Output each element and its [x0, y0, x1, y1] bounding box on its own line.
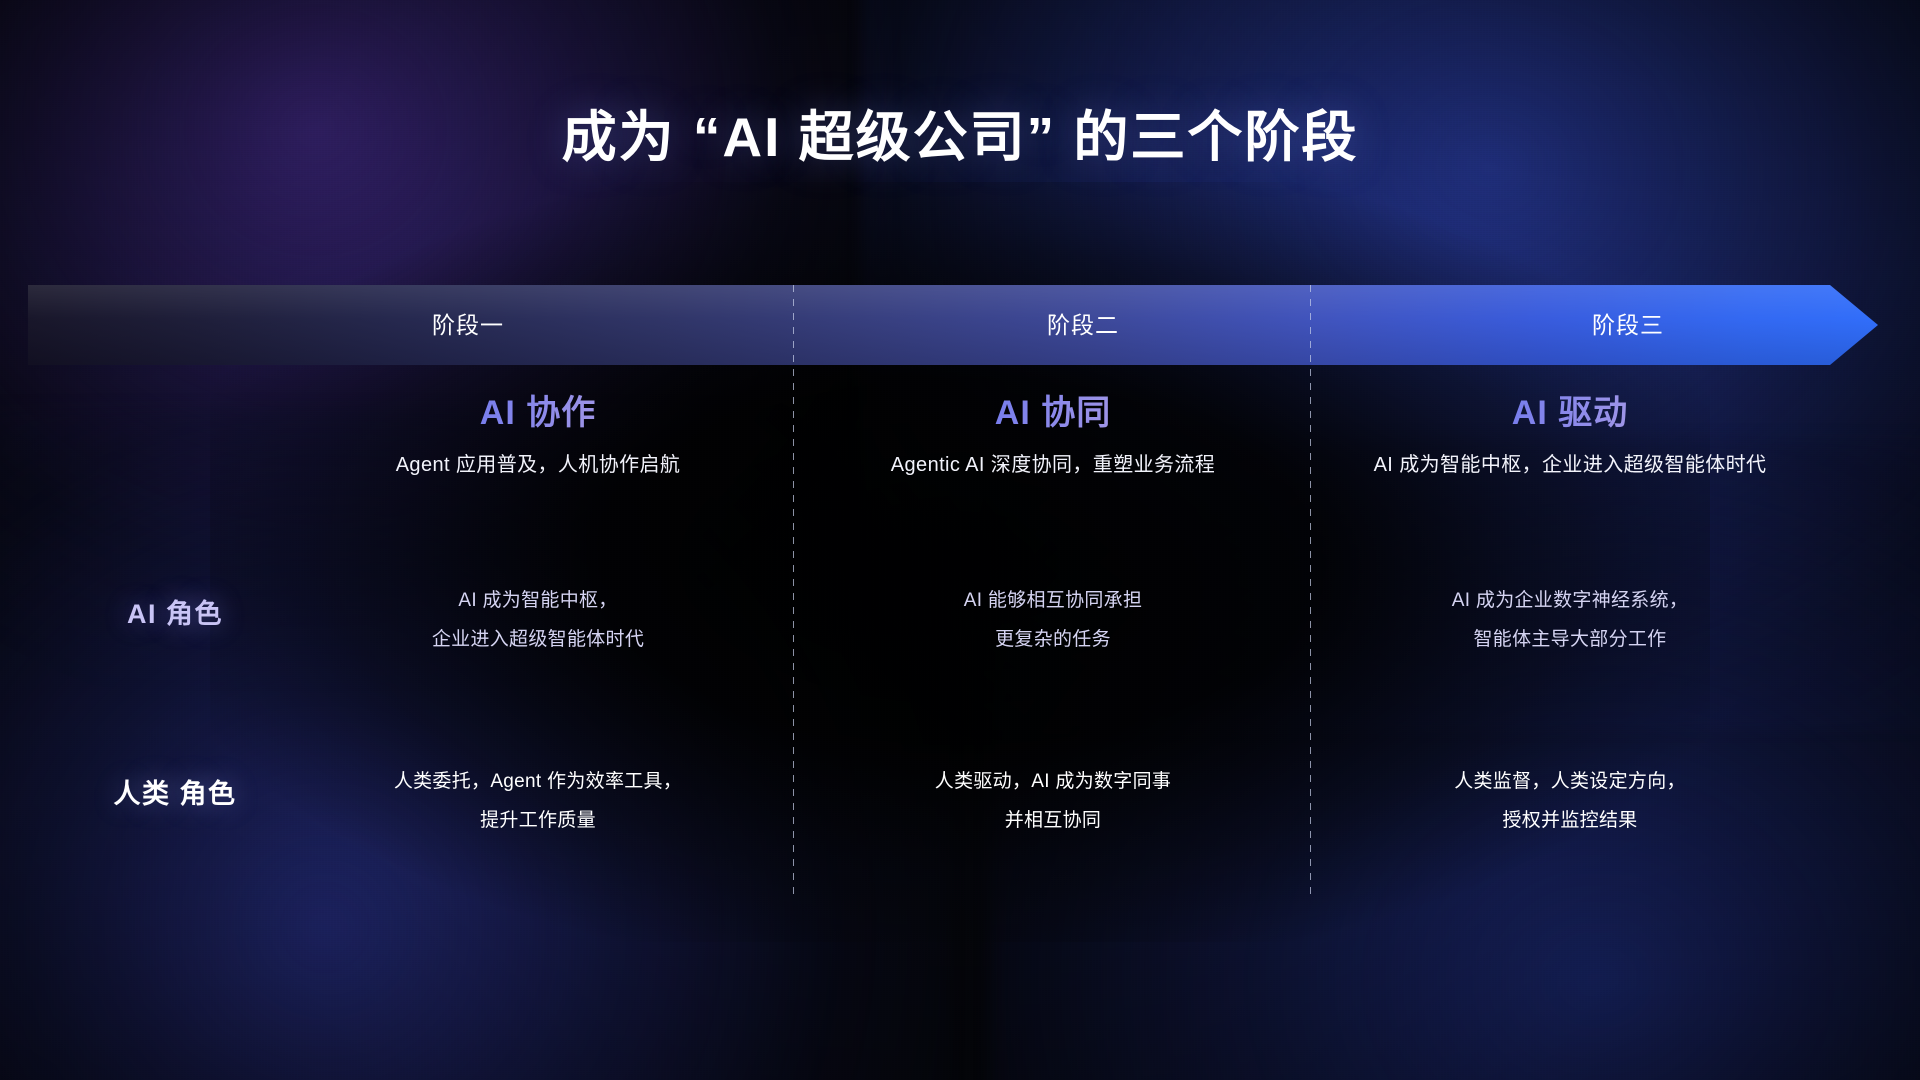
cell-line: 人类监督，人类设定方向，: [1310, 762, 1830, 801]
cell-line: AI 能够相互协同承担: [793, 581, 1313, 620]
cell-line: 授权并监控结果: [1310, 801, 1830, 840]
column-subtitle-three: AI 成为智能中枢，企业进入超级智能体时代: [1310, 448, 1830, 477]
cell-line: 提升工作质量: [278, 801, 798, 840]
row-label-human-role: 人类 角色: [60, 772, 290, 811]
cell-line: 人类委托，Agent 作为效率工具，: [278, 762, 798, 801]
cell-line: AI 成为智能中枢，: [278, 581, 798, 620]
column-header-one: AI 协作 Agent 应用普及，人机协作启航: [278, 385, 798, 477]
column-title-two: AI 协同: [793, 385, 1313, 434]
cell-ai-role-stage-three: AI 成为企业数字神经系统， 智能体主导大部分工作: [1310, 581, 1830, 659]
cell-line: 更复杂的任务: [793, 620, 1313, 659]
cell-line: 企业进入超级智能体时代: [278, 620, 798, 659]
cell-line: 并相互协同: [793, 801, 1313, 840]
stage-label-three[interactable]: 阶段三: [1508, 285, 1748, 365]
stage-label-one[interactable]: 阶段一: [348, 285, 588, 365]
cell-ai-role-stage-two: AI 能够相互协同承担 更复杂的任务: [793, 581, 1313, 659]
row-label-ai-role: AI 角色: [60, 592, 290, 631]
cell-line: 人类驱动，AI 成为数字同事: [793, 762, 1313, 801]
page-title: 成为 “AI 超级公司” 的三个阶段: [0, 92, 1920, 172]
presentation-slide: 成为 “AI 超级公司” 的三个阶段 阶段一 阶段二 阶段三 AI 协作 Age…: [0, 0, 1920, 1080]
cell-human-role-stage-one: 人类委托，Agent 作为效率工具， 提升工作质量: [278, 762, 798, 840]
stage-label-two[interactable]: 阶段二: [963, 285, 1203, 365]
column-subtitle-two: Agentic AI 深度协同，重塑业务流程: [793, 448, 1313, 477]
cell-human-role-stage-three: 人类监督，人类设定方向， 授权并监控结果: [1310, 762, 1830, 840]
column-header-three: AI 驱动 AI 成为智能中枢，企业进入超级智能体时代: [1310, 385, 1830, 477]
column-header-two: AI 协同 Agentic AI 深度协同，重塑业务流程: [793, 385, 1313, 477]
cell-line: 智能体主导大部分工作: [1310, 620, 1830, 659]
column-subtitle-one: Agent 应用普及，人机协作启航: [278, 448, 798, 477]
cell-human-role-stage-two: 人类驱动，AI 成为数字同事 并相互协同: [793, 762, 1313, 840]
cell-ai-role-stage-one: AI 成为智能中枢， 企业进入超级智能体时代: [278, 581, 798, 659]
column-title-three: AI 驱动: [1310, 385, 1830, 434]
column-title-one: AI 协作: [278, 385, 798, 434]
cell-line: AI 成为企业数字神经系统，: [1310, 581, 1830, 620]
stage-progress-arrow: 阶段一 阶段二 阶段三: [28, 285, 1878, 365]
